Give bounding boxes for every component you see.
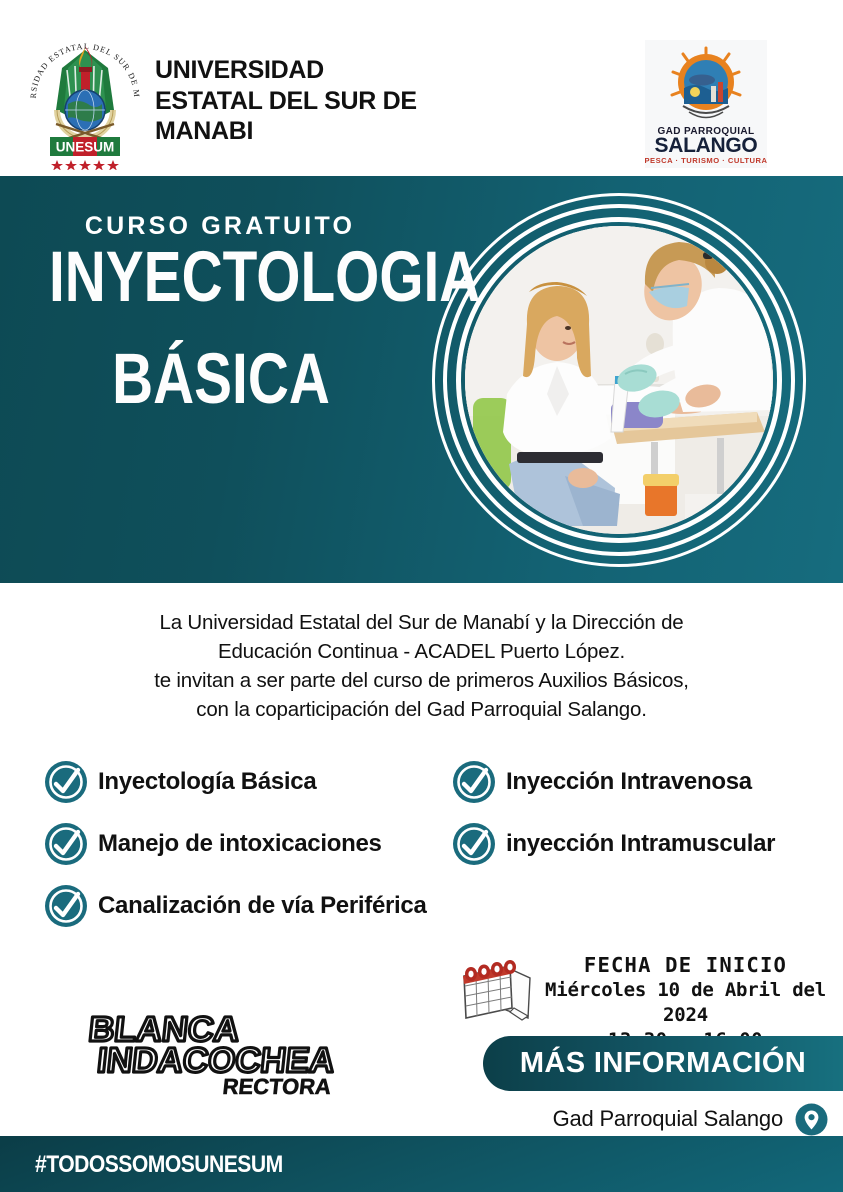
intro-line-1: La Universidad Estatal del Sur de Manabí… <box>40 608 803 637</box>
hero-title-line-2: BÁSICA <box>49 346 393 414</box>
venue-row: Gad Parroquial Salango <box>483 1100 828 1138</box>
date-value: Miércoles 10 de Abril del 2024 <box>528 978 843 1027</box>
hero-title-line-1: INYECTOLOGIA <box>49 244 393 312</box>
salango-logo: GAD PARROQUIAL SALANGO PESCA · TURISMO ·… <box>645 40 767 168</box>
more-information-label: MÁS INFORMACIÓN <box>520 1047 806 1080</box>
topic-label: Inyectología Básica <box>98 768 316 796</box>
salango-line-3: PESCA · TURISMO · CULTURA <box>645 156 767 165</box>
date-heading: FECHA DE INICIO <box>528 952 843 978</box>
check-circle-icon <box>452 822 496 866</box>
calendar-icon <box>458 958 536 1024</box>
hero-photo-medallion <box>432 193 806 567</box>
intro-line-4: con la coparticipación del Gad Parroquia… <box>40 695 803 724</box>
rectora-line-3: RECTORA <box>221 1074 332 1099</box>
location-pin-icon[interactable] <box>795 1103 828 1136</box>
intro-paragraph: La Universidad Estatal del Sur de Manabí… <box>40 608 803 724</box>
unesum-seal-logo: UNIVERSIDAD ESTATAL DEL SUR DE MANABI <box>22 24 148 170</box>
list-item-topic-1: Inyectología Básica <box>44 760 316 804</box>
list-item-topic-5: inyección Intramuscular <box>452 822 775 866</box>
topic-label: inyección Intramuscular <box>506 830 775 858</box>
hero-banner: CURSO GRATUITO INYECTOLOGIA BÁSICA <box>0 176 843 583</box>
hero-kicker: CURSO GRATUITO <box>0 212 440 241</box>
seal-stars <box>51 160 119 170</box>
list-item-topic-2: Manejo de intoxicaciones <box>44 822 382 866</box>
list-item-topic-3: Canalización de vía Periférica <box>44 884 427 928</box>
svg-text:UNESUM: UNESUM <box>56 140 115 155</box>
more-information-button[interactable]: MÁS INFORMACIÓN <box>483 1036 843 1091</box>
course-topics-list: Inyectología Básica Manejo de intoxicaci… <box>0 760 843 925</box>
check-circle-icon <box>44 760 88 804</box>
rectora-signature-logo: BLANCA INDACOCHEA RECTORA <box>85 1008 355 1103</box>
intro-line-2: Educación Continua - ACADEL Puerto López… <box>40 637 803 666</box>
header-bar: UNIVERSIDAD ESTATAL DEL SUR DE MANABI <box>0 0 843 176</box>
university-name: UNIVERSIDAD ESTATAL DEL SUR DE MANABI <box>155 55 485 147</box>
list-item-topic-4: Inyección Intravenosa <box>452 760 752 804</box>
topic-label: Canalización de vía Periférica <box>98 892 427 920</box>
check-circle-icon <box>44 884 88 928</box>
check-circle-icon <box>452 760 496 804</box>
check-circle-icon <box>44 822 88 866</box>
salango-line-2: SALANGO <box>655 134 758 157</box>
injection-photo <box>465 226 773 534</box>
university-name-line-3: MANABI <box>155 116 485 147</box>
poster-root: UNIVERSIDAD ESTATAL DEL SUR DE MANABI <box>0 0 843 1192</box>
seal-banner: UNESUM <box>50 137 120 156</box>
footer-hashtag: #TODOSSOMOSUNESUM <box>35 1151 283 1179</box>
topic-label: Inyección Intravenosa <box>506 768 752 796</box>
footer-bar: #TODOSSOMOSUNESUM <box>0 1136 843 1192</box>
intro-line-3: te invitan a ser parte del curso de prim… <box>40 666 803 695</box>
university-name-line-2: ESTATAL DEL SUR DE <box>155 86 485 117</box>
university-name-line-1: UNIVERSIDAD <box>155 55 485 86</box>
venue-label: Gad Parroquial Salango <box>553 1106 783 1132</box>
topic-label: Manejo de intoxicaciones <box>98 830 382 858</box>
